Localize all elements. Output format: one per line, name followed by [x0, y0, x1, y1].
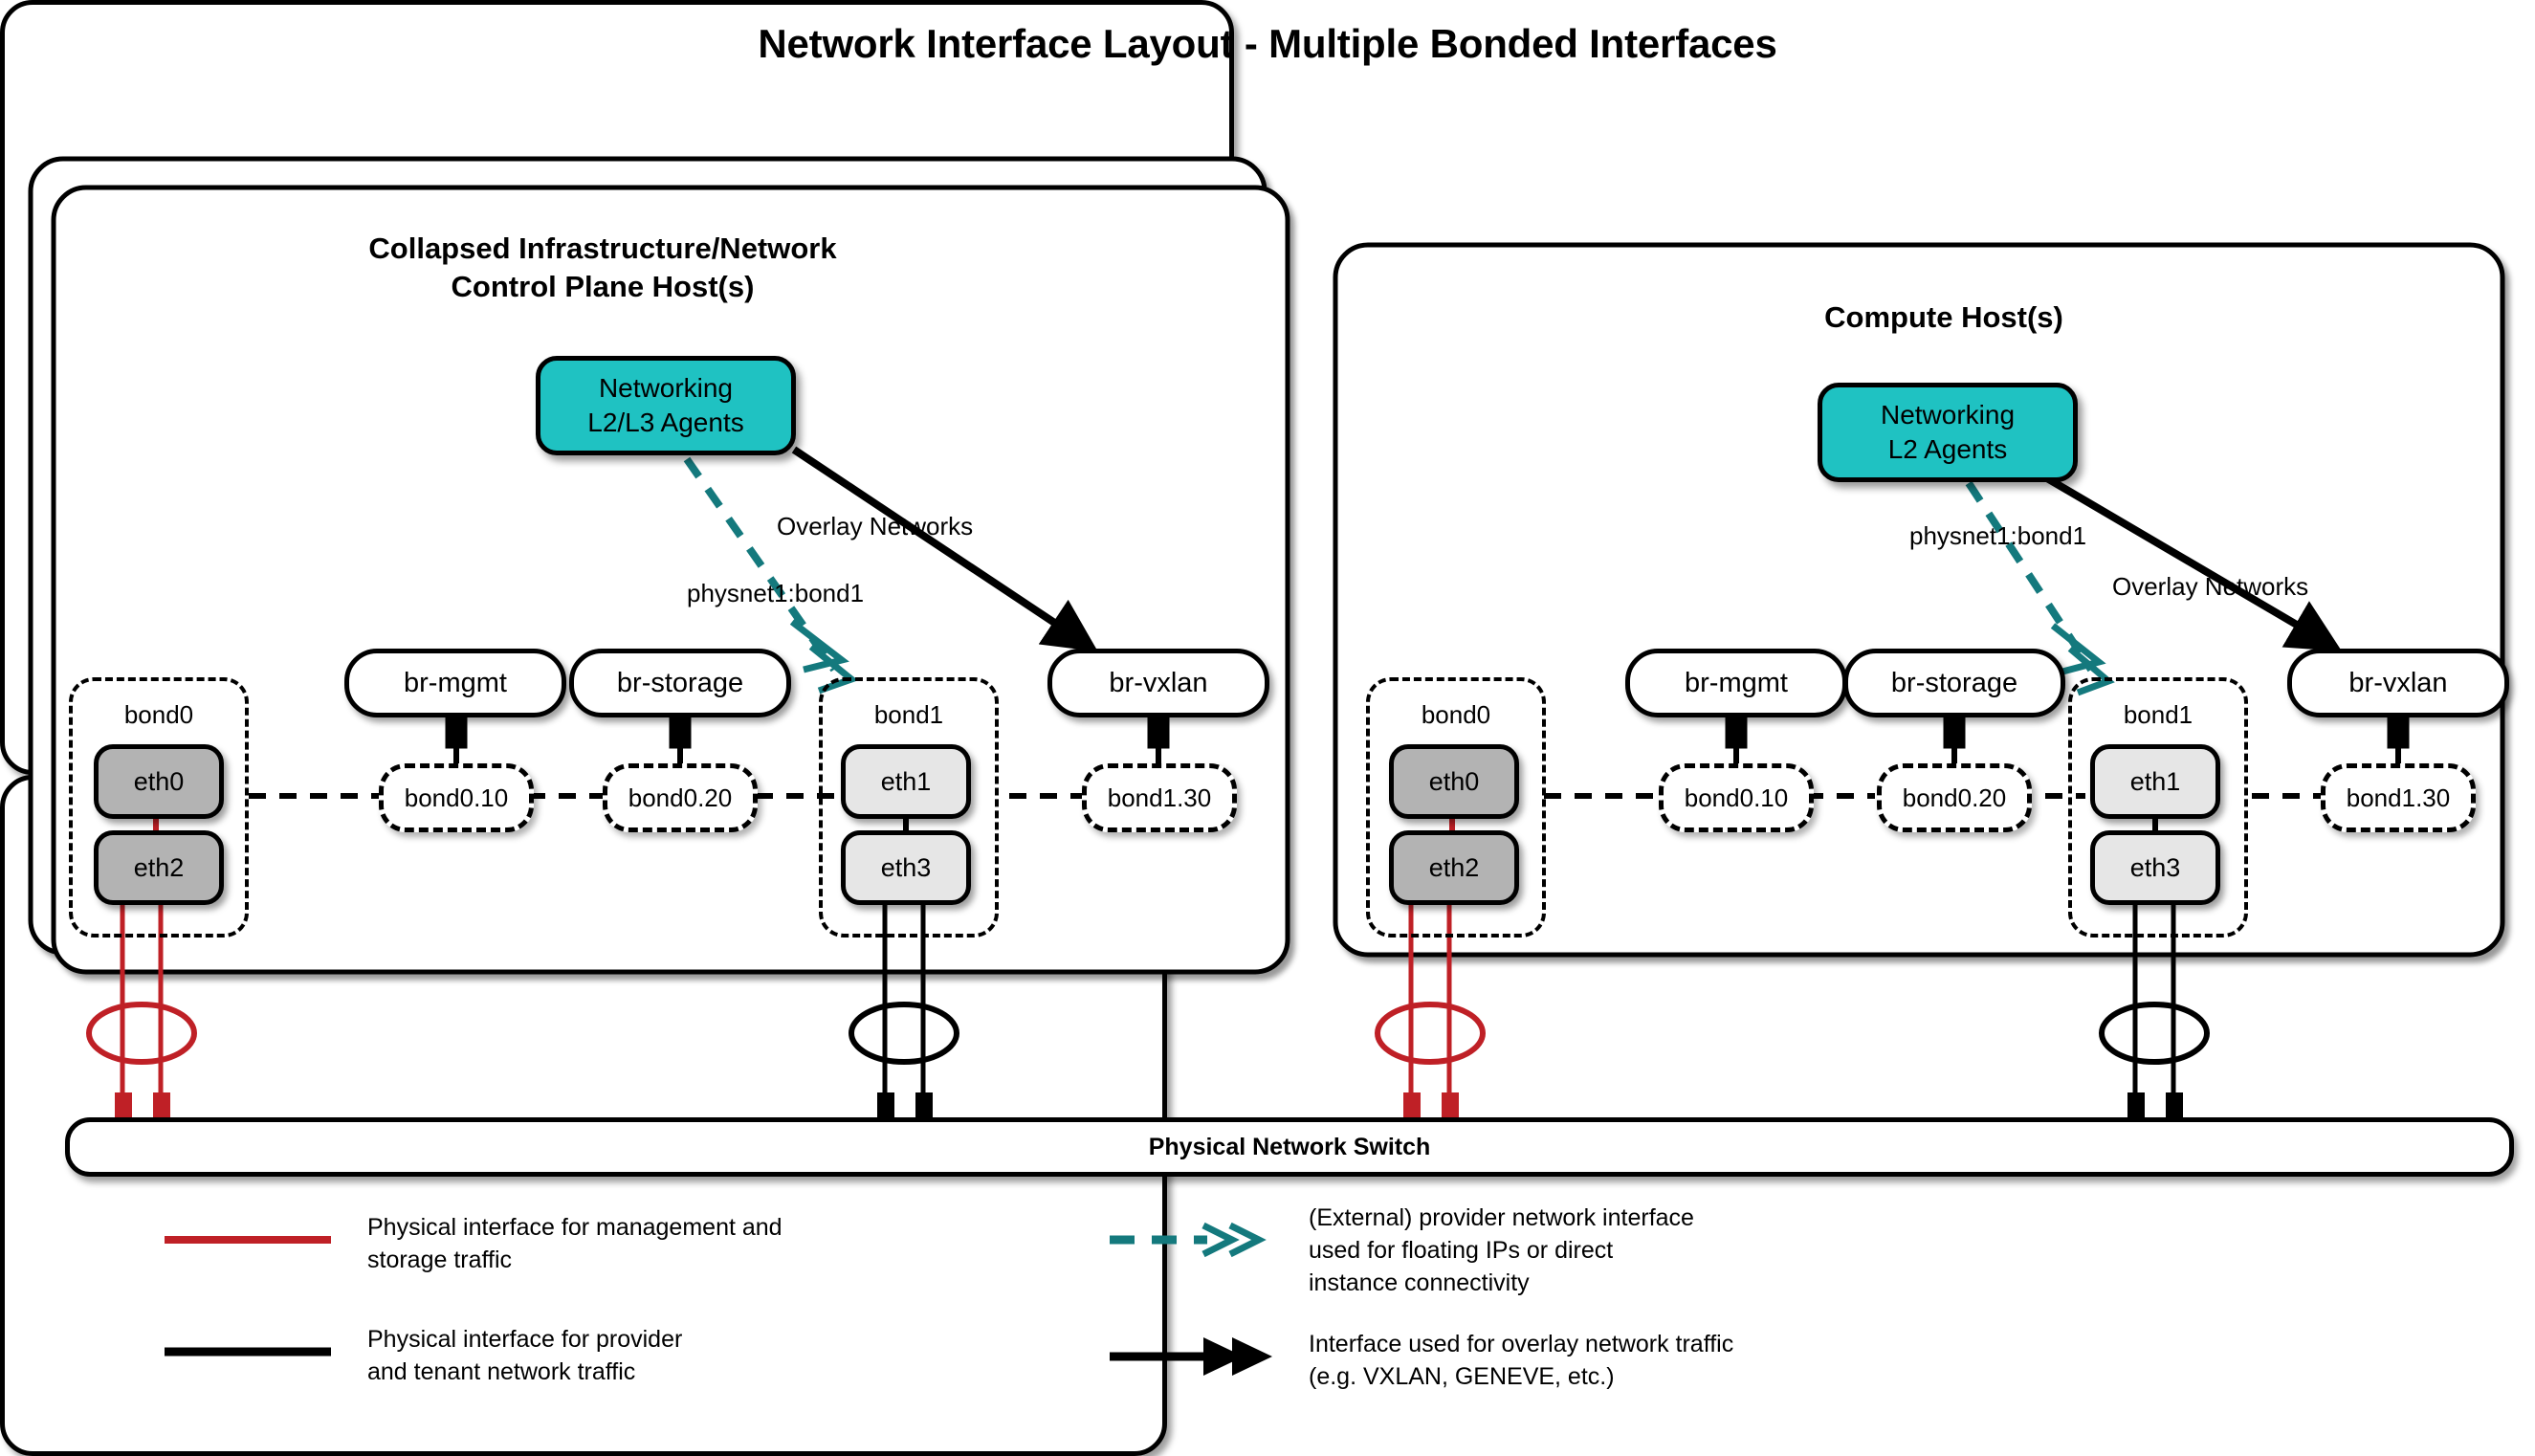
vlan-bond0-20-control-plane[interactable]: bond0.20 [603, 763, 758, 832]
physical-network-switch[interactable]: Physical Network Switch [65, 1117, 2514, 1177]
host-title-compute: Compute Host(s) [1657, 298, 2231, 337]
annotation-overlay-control-plane: Overlay Networks [777, 512, 973, 541]
bridge-br-vxlan-control-plane[interactable]: br-vxlan [1047, 649, 1269, 717]
vlan-bond0-10-control-plane[interactable]: bond0.10 [379, 763, 534, 832]
eth-eth2-compute[interactable]: eth2 [1389, 830, 1519, 905]
agent-box-compute[interactable]: Networking L2 Agents [1818, 383, 2078, 482]
legend-text-overlay: Interface used for overlay network traff… [1309, 1328, 1959, 1393]
legend-text-provider-tenant: Physical interface for provider and tena… [367, 1323, 903, 1388]
bridge-br-vxlan-compute[interactable]: br-vxlan [2287, 649, 2509, 717]
vlan-bond1-30-control-plane[interactable]: bond1.30 [1082, 763, 1237, 832]
diagram-canvas: Network Interface Layout - Multiple Bond… [0, 0, 2535, 1416]
eth-eth3-compute[interactable]: eth3 [2090, 830, 2220, 905]
bond-label-bond1-control-plane: bond1 [823, 700, 995, 730]
eth-eth0-control-plane[interactable]: eth0 [94, 744, 224, 819]
eth-eth0-compute[interactable]: eth0 [1389, 744, 1519, 819]
annotation-overlay-compute: Overlay Networks [2112, 572, 2308, 602]
bridge-br-storage-control-plane[interactable]: br-storage [569, 649, 791, 717]
annotation-physnet-control-plane: physnet1:bond1 [687, 579, 864, 608]
vlan-bond0-20-compute[interactable]: bond0.20 [1877, 763, 2032, 832]
host-title-control-plane: Collapsed Infrastructure/Network Control… [268, 230, 937, 305]
eth-eth1-control-plane[interactable]: eth1 [841, 744, 971, 819]
bridge-br-mgmt-compute[interactable]: br-mgmt [1625, 649, 1847, 717]
legend-arrow-overlay [1110, 1337, 1272, 1376]
bond-label-bond0-compute: bond0 [1370, 700, 1542, 730]
legend-text-external-provider: (External) provider network interface us… [1309, 1202, 1921, 1299]
vlan-bond0-10-compute[interactable]: bond0.10 [1659, 763, 1814, 832]
bond-label-bond0-control-plane: bond0 [73, 700, 245, 730]
legend-text-mgmt-storage: Physical interface for management and st… [367, 1211, 903, 1276]
legend-arrow-external-provider [1110, 1225, 1259, 1254]
annotation-physnet-compute: physnet1:bond1 [1909, 521, 2086, 551]
agent-box-control-plane[interactable]: Networking L2/L3 Agents [536, 356, 796, 455]
vlan-bond1-30-compute[interactable]: bond1.30 [2321, 763, 2476, 832]
eth-eth3-control-plane[interactable]: eth3 [841, 830, 971, 905]
eth-eth1-compute[interactable]: eth1 [2090, 744, 2220, 819]
switch-label: Physical Network Switch [1149, 1134, 1431, 1161]
bond-label-bond1-compute: bond1 [2072, 700, 2244, 730]
bridge-br-mgmt-control-plane[interactable]: br-mgmt [344, 649, 566, 717]
bridge-br-storage-compute[interactable]: br-storage [1843, 649, 2065, 717]
eth-eth2-control-plane[interactable]: eth2 [94, 830, 224, 905]
